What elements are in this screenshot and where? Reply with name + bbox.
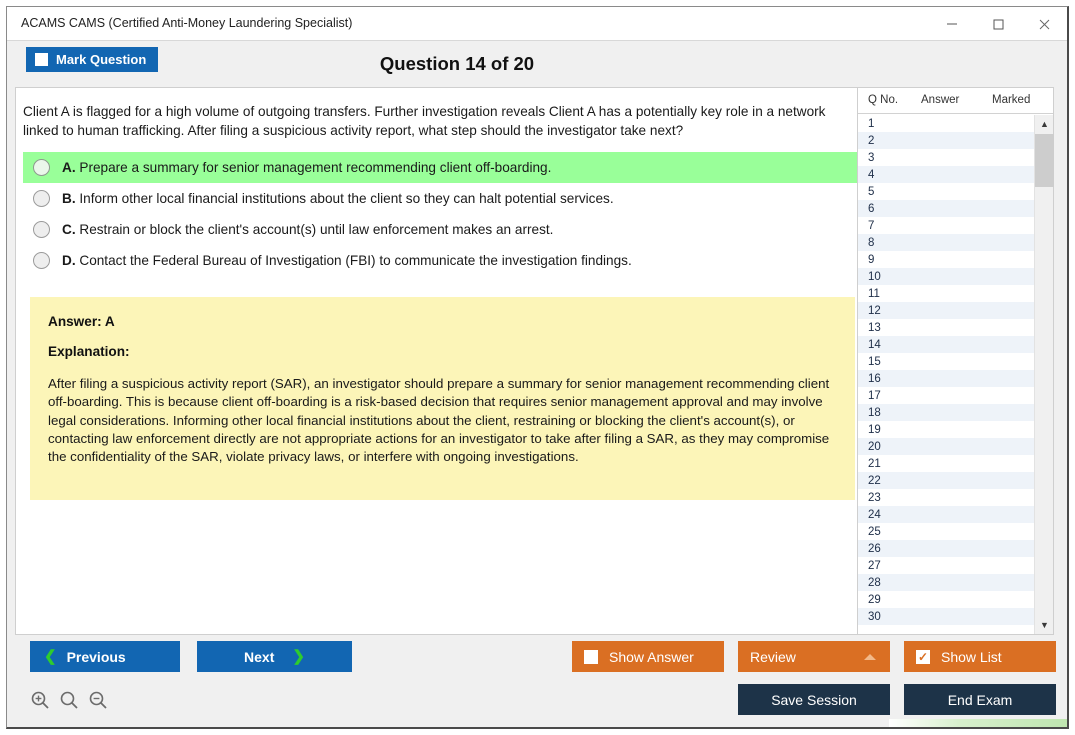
question-number-cell: 27 (868, 560, 881, 572)
table-row[interactable]: 24 (858, 506, 1034, 523)
question-text: Client A is flagged for a high volume of… (23, 102, 859, 141)
option-c[interactable]: C. Restrain or block the client's accoun… (23, 214, 863, 245)
table-row[interactable]: 19 (858, 421, 1034, 438)
table-row[interactable]: 30 (858, 608, 1034, 625)
column-header-answer: Answer (921, 94, 959, 106)
title-bar: ACAMS CAMS (Certified Anti-Money Launder… (7, 7, 1067, 41)
table-row[interactable]: 9 (858, 251, 1034, 268)
option-b-letter: B. (62, 191, 76, 206)
zoom-toolbar (30, 690, 108, 715)
table-row[interactable]: 25 (858, 523, 1034, 540)
window-title: ACAMS CAMS (Certified Anti-Money Launder… (21, 16, 352, 30)
question-number-cell: 11 (868, 288, 880, 300)
answer-line: Answer: A (48, 314, 835, 329)
window-controls (929, 7, 1067, 41)
question-number-cell: 14 (868, 339, 881, 351)
question-list-panel: Q No. Answer Marked 12345678910111213141… (857, 88, 1053, 634)
table-row[interactable]: 3 (858, 149, 1034, 166)
table-row[interactable]: 14 (858, 336, 1034, 353)
table-row[interactable]: 1 (858, 115, 1034, 132)
table-row[interactable]: 4 (858, 166, 1034, 183)
table-row[interactable]: 6 (858, 200, 1034, 217)
table-row[interactable]: 23 (858, 489, 1034, 506)
question-number-cell: 6 (868, 203, 874, 215)
answer-explanation-box: Answer: A Explanation: After filing a su… (30, 297, 855, 500)
question-number-cell: 29 (868, 594, 881, 606)
question-number-cell: 26 (868, 543, 881, 555)
question-number-cell: 8 (868, 237, 874, 249)
question-number-cell: 19 (868, 424, 881, 436)
column-header-marked: Marked (992, 94, 1030, 106)
question-number-cell: 21 (868, 458, 881, 470)
table-row[interactable]: 29 (858, 591, 1034, 608)
scroll-down-icon[interactable]: ▼ (1035, 616, 1054, 634)
zoom-out-icon[interactable] (88, 690, 108, 715)
option-b-body: Inform other local financial institution… (79, 191, 613, 206)
question-number-cell: 9 (868, 254, 874, 266)
option-d-body: Contact the Federal Bureau of Investigat… (79, 253, 631, 268)
table-row[interactable]: 22 (858, 472, 1034, 489)
question-list-scrollbar[interactable]: ▲ ▼ (1034, 115, 1053, 634)
question-number-cell: 1 (868, 118, 874, 130)
option-c-body: Restrain or block the client's account(s… (79, 222, 553, 237)
option-b-text: B. Inform other local financial institut… (62, 191, 614, 206)
question-number-cell: 17 (868, 390, 881, 402)
question-number-cell: 30 (868, 611, 881, 623)
main-panel: Client A is flagged for a high volume of… (15, 87, 1054, 635)
decorative-strip (889, 719, 1067, 727)
explanation-body: After filing a suspicious activity repor… (48, 375, 835, 467)
zoom-reset-icon[interactable] (59, 690, 79, 715)
previous-label: Previous (67, 649, 126, 665)
option-c-letter: C. (62, 222, 76, 237)
table-row[interactable]: 21 (858, 455, 1034, 472)
question-number-cell: 25 (868, 526, 881, 538)
chevron-left-icon: ❮ (44, 649, 57, 664)
option-a-text: A. Prepare a summary for senior manageme… (62, 160, 551, 175)
show-list-button[interactable]: ✓ Show List (904, 641, 1056, 672)
option-b[interactable]: B. Inform other local financial institut… (23, 183, 863, 214)
question-list-rows[interactable]: 1234567891011121314151617181920212223242… (858, 115, 1034, 634)
question-number-cell: 4 (868, 169, 874, 181)
mark-question-button[interactable]: Mark Question (26, 47, 158, 72)
table-row[interactable]: 15 (858, 353, 1034, 370)
question-number-cell: 2 (868, 135, 874, 147)
minimize-icon[interactable] (929, 7, 975, 41)
table-row[interactable]: 13 (858, 319, 1034, 336)
option-a-body: Prepare a summary for senior management … (79, 160, 551, 175)
question-number-cell: 24 (868, 509, 881, 521)
question-number-cell: 10 (868, 271, 881, 283)
table-row[interactable]: 8 (858, 234, 1034, 251)
column-header-qno: Q No. (868, 94, 898, 106)
table-row[interactable]: 2 (858, 132, 1034, 149)
table-row[interactable]: 7 (858, 217, 1034, 234)
end-exam-button[interactable]: End Exam (904, 684, 1056, 715)
chevron-up-icon (864, 654, 876, 660)
question-number-cell: 12 (868, 305, 881, 317)
question-list-header: Q No. Answer Marked (858, 88, 1053, 114)
table-row[interactable]: 28 (858, 574, 1034, 591)
table-row[interactable]: 17 (858, 387, 1034, 404)
save-session-button[interactable]: Save Session (738, 684, 890, 715)
question-number-cell: 18 (868, 407, 881, 419)
end-exam-label: End Exam (948, 692, 1013, 708)
close-icon[interactable] (1021, 7, 1067, 41)
scrollbar-thumb[interactable] (1035, 134, 1054, 187)
radio-icon-c[interactable] (33, 221, 50, 238)
exam-header: Question 14 of 20 Mark Question (7, 41, 1067, 87)
table-row[interactable]: 10 (858, 268, 1034, 285)
question-number-cell: 22 (868, 475, 881, 487)
option-a[interactable]: A. Prepare a summary for senior manageme… (23, 152, 863, 183)
question-number-cell: 7 (868, 220, 874, 232)
save-session-label: Save Session (771, 692, 857, 708)
show-list-label: Show List (941, 649, 1002, 665)
radio-icon-d[interactable] (33, 252, 50, 269)
option-d-letter: D. (62, 253, 76, 268)
chevron-right-icon: ❯ (292, 649, 305, 664)
question-number-cell: 15 (868, 356, 881, 368)
mark-question-label: Mark Question (56, 52, 146, 67)
option-d-text: D. Contact the Federal Bureau of Investi… (62, 253, 632, 268)
table-row[interactable]: 12 (858, 302, 1034, 319)
page-title: Question 14 of 20 (7, 41, 1067, 87)
question-number-cell: 13 (868, 322, 881, 334)
exam-window: ACAMS CAMS (Certified Anti-Money Launder… (6, 6, 1069, 729)
scroll-up-icon[interactable]: ▲ (1035, 115, 1054, 133)
next-label: Next (244, 649, 274, 665)
table-row[interactable]: 16 (858, 370, 1034, 387)
review-dropdown-button[interactable]: Review (738, 641, 890, 672)
table-row[interactable]: 27 (858, 557, 1034, 574)
question-number-cell: 3 (868, 152, 874, 164)
show-answer-label: Show Answer (609, 649, 694, 665)
table-row[interactable]: 11 (858, 285, 1034, 302)
previous-button[interactable]: ❮ Previous (30, 641, 180, 672)
question-number-cell: 5 (868, 186, 874, 198)
show-answer-checkbox-icon (584, 650, 598, 664)
option-d[interactable]: D. Contact the Federal Bureau of Investi… (23, 245, 863, 276)
table-row[interactable]: 5 (858, 183, 1034, 200)
next-button[interactable]: Next ❯ (197, 641, 352, 672)
radio-icon-b[interactable] (33, 190, 50, 207)
table-row[interactable]: 26 (858, 540, 1034, 557)
explanation-label: Explanation: (48, 344, 835, 359)
table-row[interactable]: 18 (858, 404, 1034, 421)
question-number-cell: 28 (868, 577, 881, 589)
radio-icon-a[interactable] (33, 159, 50, 176)
option-c-text: C. Restrain or block the client's accoun… (62, 222, 553, 237)
maximize-icon[interactable] (975, 7, 1021, 41)
review-label: Review (750, 649, 796, 665)
zoom-in-icon[interactable] (30, 690, 50, 715)
show-list-checkbox-icon: ✓ (916, 650, 930, 664)
show-answer-button[interactable]: Show Answer (572, 641, 724, 672)
options-list: A. Prepare a summary for senior manageme… (23, 152, 863, 276)
question-number-cell: 16 (868, 373, 881, 385)
table-row[interactable]: 20 (858, 438, 1034, 455)
option-a-letter: A. (62, 160, 76, 175)
mark-question-checkbox-icon (35, 53, 48, 66)
question-number-cell: 23 (868, 492, 881, 504)
question-number-cell: 20 (868, 441, 881, 453)
